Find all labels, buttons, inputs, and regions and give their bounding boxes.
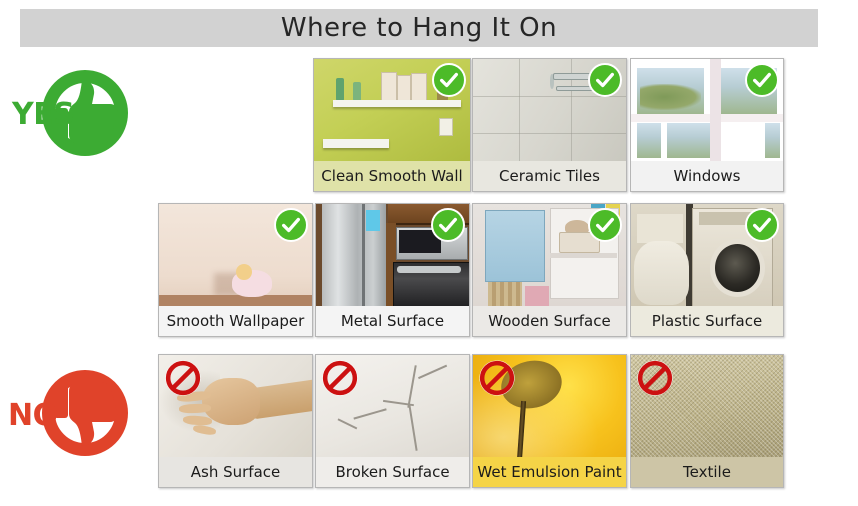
check-circle-icon bbox=[432, 63, 466, 97]
verdict-yes-label: YES bbox=[12, 97, 74, 132]
surface-tile-metal-surface[interactable]: Metal Surface bbox=[315, 203, 470, 337]
page-title: Where to Hang It On bbox=[281, 13, 557, 43]
check-circle-icon bbox=[745, 208, 779, 242]
surface-tile-wet-emulsion-paint[interactable]: Wet Emulsion Paint bbox=[472, 354, 627, 488]
tile-label: Clean Smooth Wall bbox=[314, 161, 470, 191]
surface-tile-textile[interactable]: Textile bbox=[630, 354, 784, 488]
tile-label: Smooth Wallpaper bbox=[159, 306, 312, 336]
page-header-band: Where to Hang It On bbox=[20, 9, 818, 47]
tile-label: Ceramic Tiles bbox=[473, 161, 626, 191]
check-circle-icon bbox=[431, 208, 465, 242]
prohibition-icon bbox=[322, 360, 358, 396]
prohibition-icon bbox=[637, 360, 673, 396]
tile-label: Textile bbox=[631, 457, 783, 487]
check-circle-icon bbox=[745, 63, 779, 97]
tile-label: Ash Surface bbox=[159, 457, 312, 487]
check-circle-icon bbox=[588, 208, 622, 242]
verdict-no-label: NO bbox=[8, 398, 58, 433]
tile-label: Plastic Surface bbox=[631, 306, 783, 336]
surface-tile-plastic-surface[interactable]: Plastic Surface bbox=[630, 203, 784, 337]
check-circle-icon bbox=[274, 208, 308, 242]
verdict-yes: YES bbox=[0, 62, 150, 182]
check-circle-icon bbox=[588, 63, 622, 97]
surface-tile-broken-surface[interactable]: Broken Surface bbox=[315, 354, 470, 488]
tile-label: Metal Surface bbox=[316, 306, 469, 336]
surface-tile-clean-smooth-wall[interactable]: Clean Smooth Wall bbox=[313, 58, 471, 192]
tile-label: Wooden Surface bbox=[473, 306, 626, 336]
thumbs-down-icon bbox=[52, 376, 120, 450]
prohibition-icon bbox=[165, 360, 201, 396]
verdict-no: NO bbox=[0, 362, 150, 482]
prohibition-icon bbox=[479, 360, 515, 396]
tile-label: Broken Surface bbox=[316, 457, 469, 487]
surface-tile-smooth-wallpaper[interactable]: Smooth Wallpaper bbox=[158, 203, 313, 337]
tile-label: Windows bbox=[631, 161, 783, 191]
surface-tile-ash-surface[interactable]: Ash Surface bbox=[158, 354, 313, 488]
tile-label: Wet Emulsion Paint bbox=[473, 457, 626, 487]
surface-tile-wooden-surface[interactable]: Wooden Surface bbox=[472, 203, 627, 337]
surface-tile-windows[interactable]: Windows bbox=[630, 58, 784, 192]
surface-tile-ceramic-tiles[interactable]: Ceramic Tiles bbox=[472, 58, 627, 192]
